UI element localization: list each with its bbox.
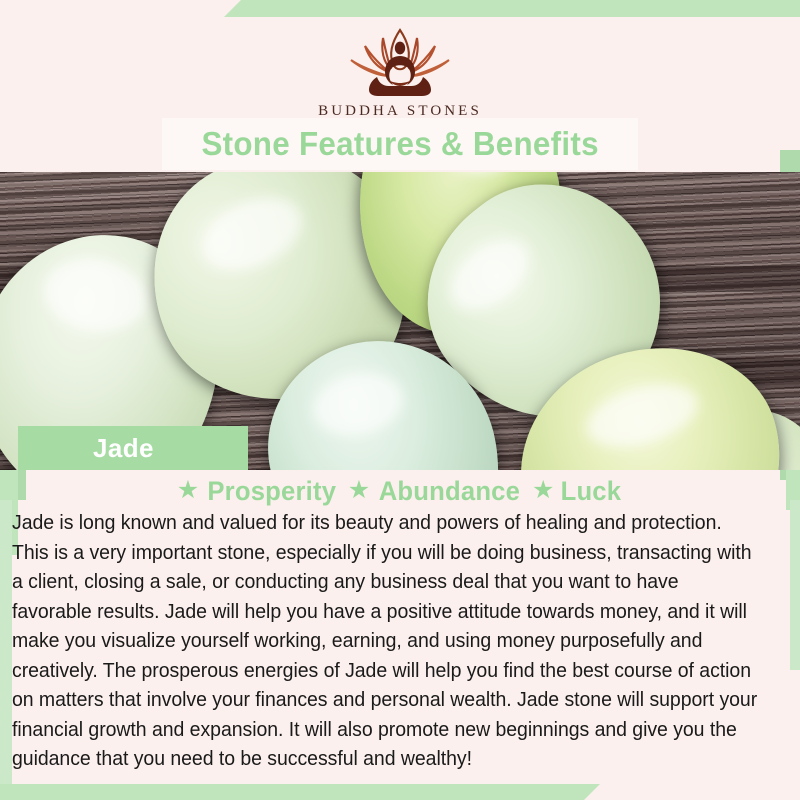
- stone-name-label: Jade: [93, 433, 154, 464]
- benefit-item: ★ Luck: [532, 476, 623, 507]
- title-banner: Stone Features & Benefits: [162, 118, 638, 170]
- star-icon: ★: [532, 478, 554, 503]
- stone-description: Jade is long known and valued for its be…: [12, 509, 763, 775]
- benefit-item: ★ Prosperity: [177, 476, 340, 507]
- benefit-label: Abundance: [379, 476, 520, 507]
- page-title: Stone Features & Benefits: [201, 125, 598, 163]
- benefit-item: ★ Abundance: [348, 476, 524, 507]
- benefits-list: ★ Prosperity ★ Abundance ★ Luck: [0, 473, 800, 509]
- stone-name-tag: Jade: [18, 426, 248, 470]
- star-icon: ★: [177, 478, 199, 503]
- benefit-label: Prosperity: [208, 476, 337, 507]
- benefit-label: Luck: [561, 476, 622, 507]
- body-left-green-edge-decoration: [0, 500, 12, 785]
- infographic-page: BUDDHA STONES Stone Features & Benefits …: [0, 0, 800, 800]
- top-green-band-decoration: [224, 0, 800, 17]
- bottom-green-band-decoration: [0, 784, 600, 800]
- lotus-meditation-icon: [325, 22, 475, 100]
- brand-logo: BUDDHA STONES: [0, 22, 800, 120]
- star-icon: ★: [348, 478, 370, 503]
- body-right-green-edge-decoration: [790, 500, 800, 670]
